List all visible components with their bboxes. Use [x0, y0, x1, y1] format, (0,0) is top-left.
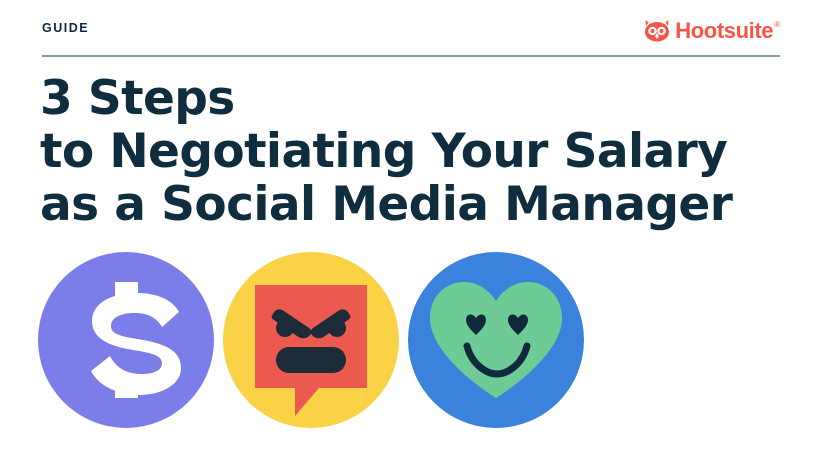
- angry-speech-bubble-illustration: [223, 252, 399, 428]
- page-title-line-2: to Negotiating Your Salary: [40, 125, 780, 178]
- heart-eyes-illustration: [408, 252, 584, 428]
- header-divider: [42, 55, 780, 57]
- guide-cover-page: GUIDE Hootsuite ® 3 Steps to Negotiating…: [0, 0, 820, 464]
- brand-name: Hootsuite: [675, 20, 773, 42]
- angry-speech-bubble-icon: [223, 252, 399, 428]
- hootsuite-logo[interactable]: Hootsuite ®: [644, 16, 780, 46]
- page-title-line-1: 3 Steps: [40, 72, 780, 125]
- owl-logo-icon: [644, 20, 670, 42]
- eyebrow-label: GUIDE: [42, 22, 89, 35]
- illustration-row: [38, 252, 584, 428]
- page-title: 3 Steps to Negotiating Your Salary as a …: [40, 72, 780, 231]
- dollar-sign-icon: [38, 252, 214, 428]
- registered-trademark-icon: ®: [774, 21, 780, 29]
- dollar-sign-illustration: [38, 252, 214, 428]
- heart-smile-icon: [408, 252, 584, 428]
- page-title-line-3: as a Social Media Manager: [40, 178, 780, 231]
- hootsuite-wordmark: Hootsuite ®: [675, 20, 780, 42]
- page-header: GUIDE Hootsuite ®: [42, 20, 780, 56]
